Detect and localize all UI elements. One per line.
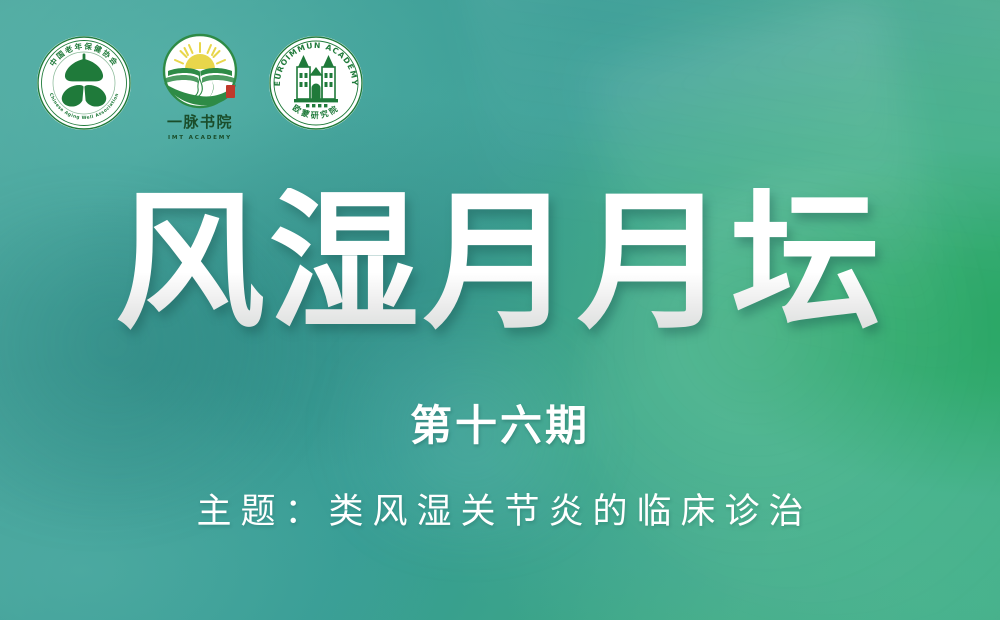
svg-text:IMT ACADEMY: IMT ACADEMY — [168, 135, 232, 141]
event-poster: 中国老年保健协会 Chinese Aging Well Association — [0, 0, 1000, 620]
logo-imt-academy: 一脉书院 IMT ACADEMY — [152, 31, 248, 145]
svg-text:一脉书院: 一脉书院 — [167, 113, 233, 131]
poster-issue-label: 第十六期 — [0, 405, 1000, 447]
poster-theme-line: 主题：类风湿关节炎的临床诊治 — [0, 495, 1000, 530]
logo-row: 中国老年保健协会 Chinese Aging Well Association — [34, 33, 366, 145]
logo-chinese-aging-well-association: 中国老年保健协会 Chinese Aging Well Association — [34, 33, 134, 133]
red-seal-icon — [226, 85, 235, 98]
logo-euroimmun-academy: EUROIMMUN ACADEMY 欧蒙研究院 — [266, 33, 366, 133]
poster-headline: 风湿月月坛 — [0, 188, 1000, 338]
